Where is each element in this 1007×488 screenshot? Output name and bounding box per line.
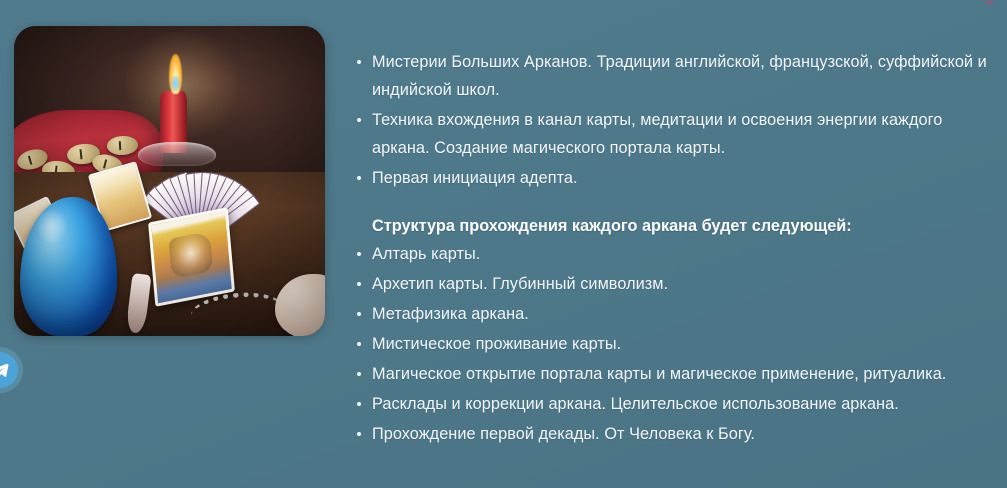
section-heading: Структура прохождения каждого аркана буд… [352, 212, 992, 240]
list-item: Прохождение первой декады. От Человека к… [352, 420, 992, 448]
tarot-card-hero [148, 207, 235, 306]
glass-candle-holder [138, 142, 216, 165]
list-item: Мистерии Больших Арканов. Традиции англи… [352, 48, 992, 104]
bullet-list-structure: Алтарь карты. Архетип карты. Глубинный с… [352, 240, 992, 448]
tarot-photo [14, 26, 325, 336]
slide-text-content: Мистерии Больших Арканов. Традиции англи… [352, 48, 992, 450]
telegram-icon [0, 361, 9, 379]
list-item: Первая инициация адепта. [352, 164, 992, 192]
photo-canvas [14, 26, 325, 336]
bullet-list-intro: Мистерии Больших Арканов. Традиции англи… [352, 48, 992, 192]
list-item: Расклады и коррекции аркана. Целительско… [352, 390, 992, 418]
list-item: Архетип карты. Глубинный символизм. [352, 270, 992, 298]
spacer [352, 194, 992, 212]
candle-flame-icon [169, 54, 182, 94]
slide-canvas: Мистерии Больших Арканов. Традиции англи… [0, 0, 1007, 488]
list-item: Мистическое проживание карты. [352, 330, 992, 358]
list-item: Метафизика аркана. [352, 300, 992, 328]
corner-mark [986, 1, 993, 4]
list-item: Алтарь карты. [352, 240, 992, 268]
list-item: Магическое открытие портала карты и маги… [352, 360, 992, 388]
list-item: Техника вхождения в канал карты, медитац… [352, 106, 992, 162]
telegram-share-button[interactable] [0, 352, 18, 388]
